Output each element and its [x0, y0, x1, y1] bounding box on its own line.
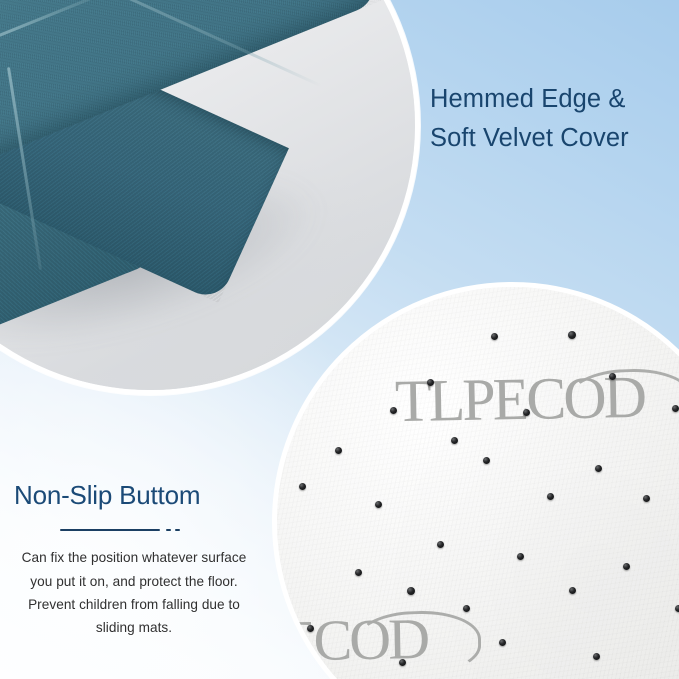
body-line: you put it on, and protect the floor. — [14, 570, 254, 593]
non-slip-dot — [547, 493, 554, 500]
divider-tick-1 — [166, 529, 171, 531]
non-slip-dot — [672, 405, 679, 412]
heading-line-1: Hemmed Edge & — [430, 80, 676, 119]
title-divider — [60, 526, 188, 534]
non-slip-dot — [635, 313, 642, 320]
non-slip-dot — [437, 541, 444, 548]
non-slip-dot — [569, 587, 576, 594]
non-slip-dot — [355, 569, 362, 576]
wordmark-swirl-icon — [566, 368, 679, 434]
non-slip-dot — [451, 437, 458, 444]
divider-tick-2 — [175, 529, 180, 531]
non-slip-dot — [595, 465, 602, 472]
non-slip-dot — [463, 605, 470, 612]
non-slip-dot — [427, 379, 434, 386]
product-photo-non-slip-bottom: TLPECOD TLPECOD TLPECOD — [272, 282, 679, 679]
non-slip-dot — [609, 373, 616, 380]
non-slip-dot — [483, 457, 490, 464]
body-line: sliding mats. — [14, 616, 254, 639]
non-slip-dot — [643, 495, 650, 502]
divider-rule — [60, 529, 160, 531]
non-slip-dot — [593, 653, 600, 660]
non-slip-dot — [499, 639, 506, 646]
brand-wordmark: TLPECOD — [394, 363, 644, 436]
non-slip-dot — [307, 625, 314, 632]
feature-body-non-slip: Can fix the position whatever surface yo… — [0, 546, 268, 640]
feature-heading-hemmed-edge: Hemmed Edge & Soft Velvet Cover — [430, 80, 676, 158]
marketing-infographic: TLPECOD TLPECOD TLPECOD Hemmed Edge & So… — [0, 0, 679, 679]
non-slip-dot — [299, 483, 306, 490]
non-slip-dot — [390, 407, 397, 414]
non-slip-dot — [675, 605, 679, 612]
body-line: Prevent children from falling due to — [14, 593, 254, 616]
body-line: Can fix the position whatever surface — [14, 546, 254, 569]
non-slip-dot — [623, 563, 630, 570]
feature-block-non-slip: Non-Slip Buttom Can fix the position wha… — [0, 480, 268, 640]
non-slip-dot — [375, 501, 382, 508]
non-slip-dot — [523, 409, 530, 416]
feature-title-non-slip: Non-Slip Buttom — [0, 480, 268, 511]
non-slip-dot — [517, 553, 524, 560]
non-slip-dot — [335, 447, 342, 454]
non-slip-dot — [407, 587, 415, 595]
non-slip-dot — [491, 333, 498, 340]
wordmark-swirl-icon — [355, 610, 482, 676]
non-slip-dot — [399, 659, 406, 666]
non-slip-dot — [568, 331, 576, 339]
heading-line-2: Soft Velvet Cover — [430, 119, 676, 158]
